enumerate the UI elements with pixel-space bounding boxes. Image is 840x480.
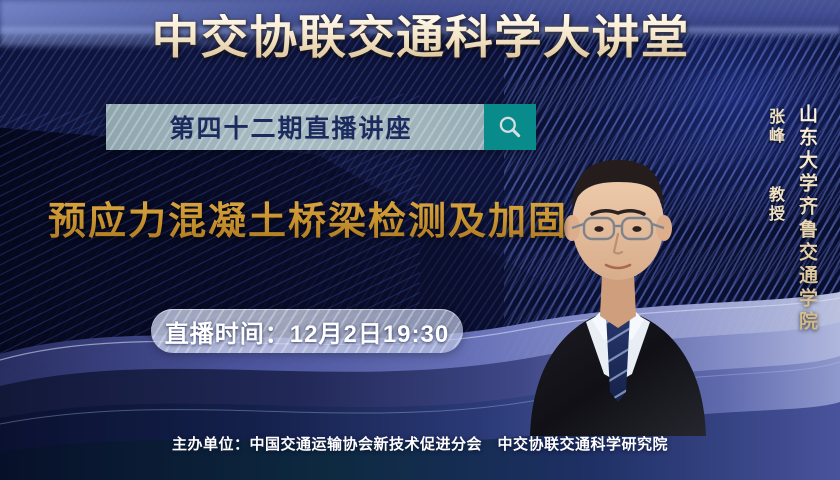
livestream-time-text: 直播时间：12月2日19:30 (165, 314, 449, 349)
lecture-topic: 预应力混凝土桥梁检测及加固 (48, 190, 568, 245)
search-icon (497, 114, 523, 140)
speaker-organization: 山东大学齐鲁交通学院 (793, 104, 820, 334)
livestream-time-badge: 直播时间：12月2日19:30 (151, 309, 463, 353)
poster-title: 中交协联交通科学大讲堂 (151, 14, 689, 60)
speaker-portrait (514, 124, 722, 436)
session-subtitle-bar: 第四十二期直播讲座 (106, 104, 536, 150)
title-container: 中交协联交通科学大讲堂 (0, 14, 840, 60)
search-icon-tile[interactable] (484, 104, 536, 150)
livestream-poster: 中交协联交通科学大讲堂 第四十二期直播讲座 预应力混凝土桥梁检测及加固 直播时间… (0, 0, 840, 480)
speaker-name: 张峰 教授 (762, 108, 786, 224)
organizer-footer: 主办单位：中国交通运输协会新技术促进分会 中交协联交通科学研究院 (0, 433, 840, 454)
session-subtitle-text: 第四十二期直播讲座 (106, 104, 484, 150)
